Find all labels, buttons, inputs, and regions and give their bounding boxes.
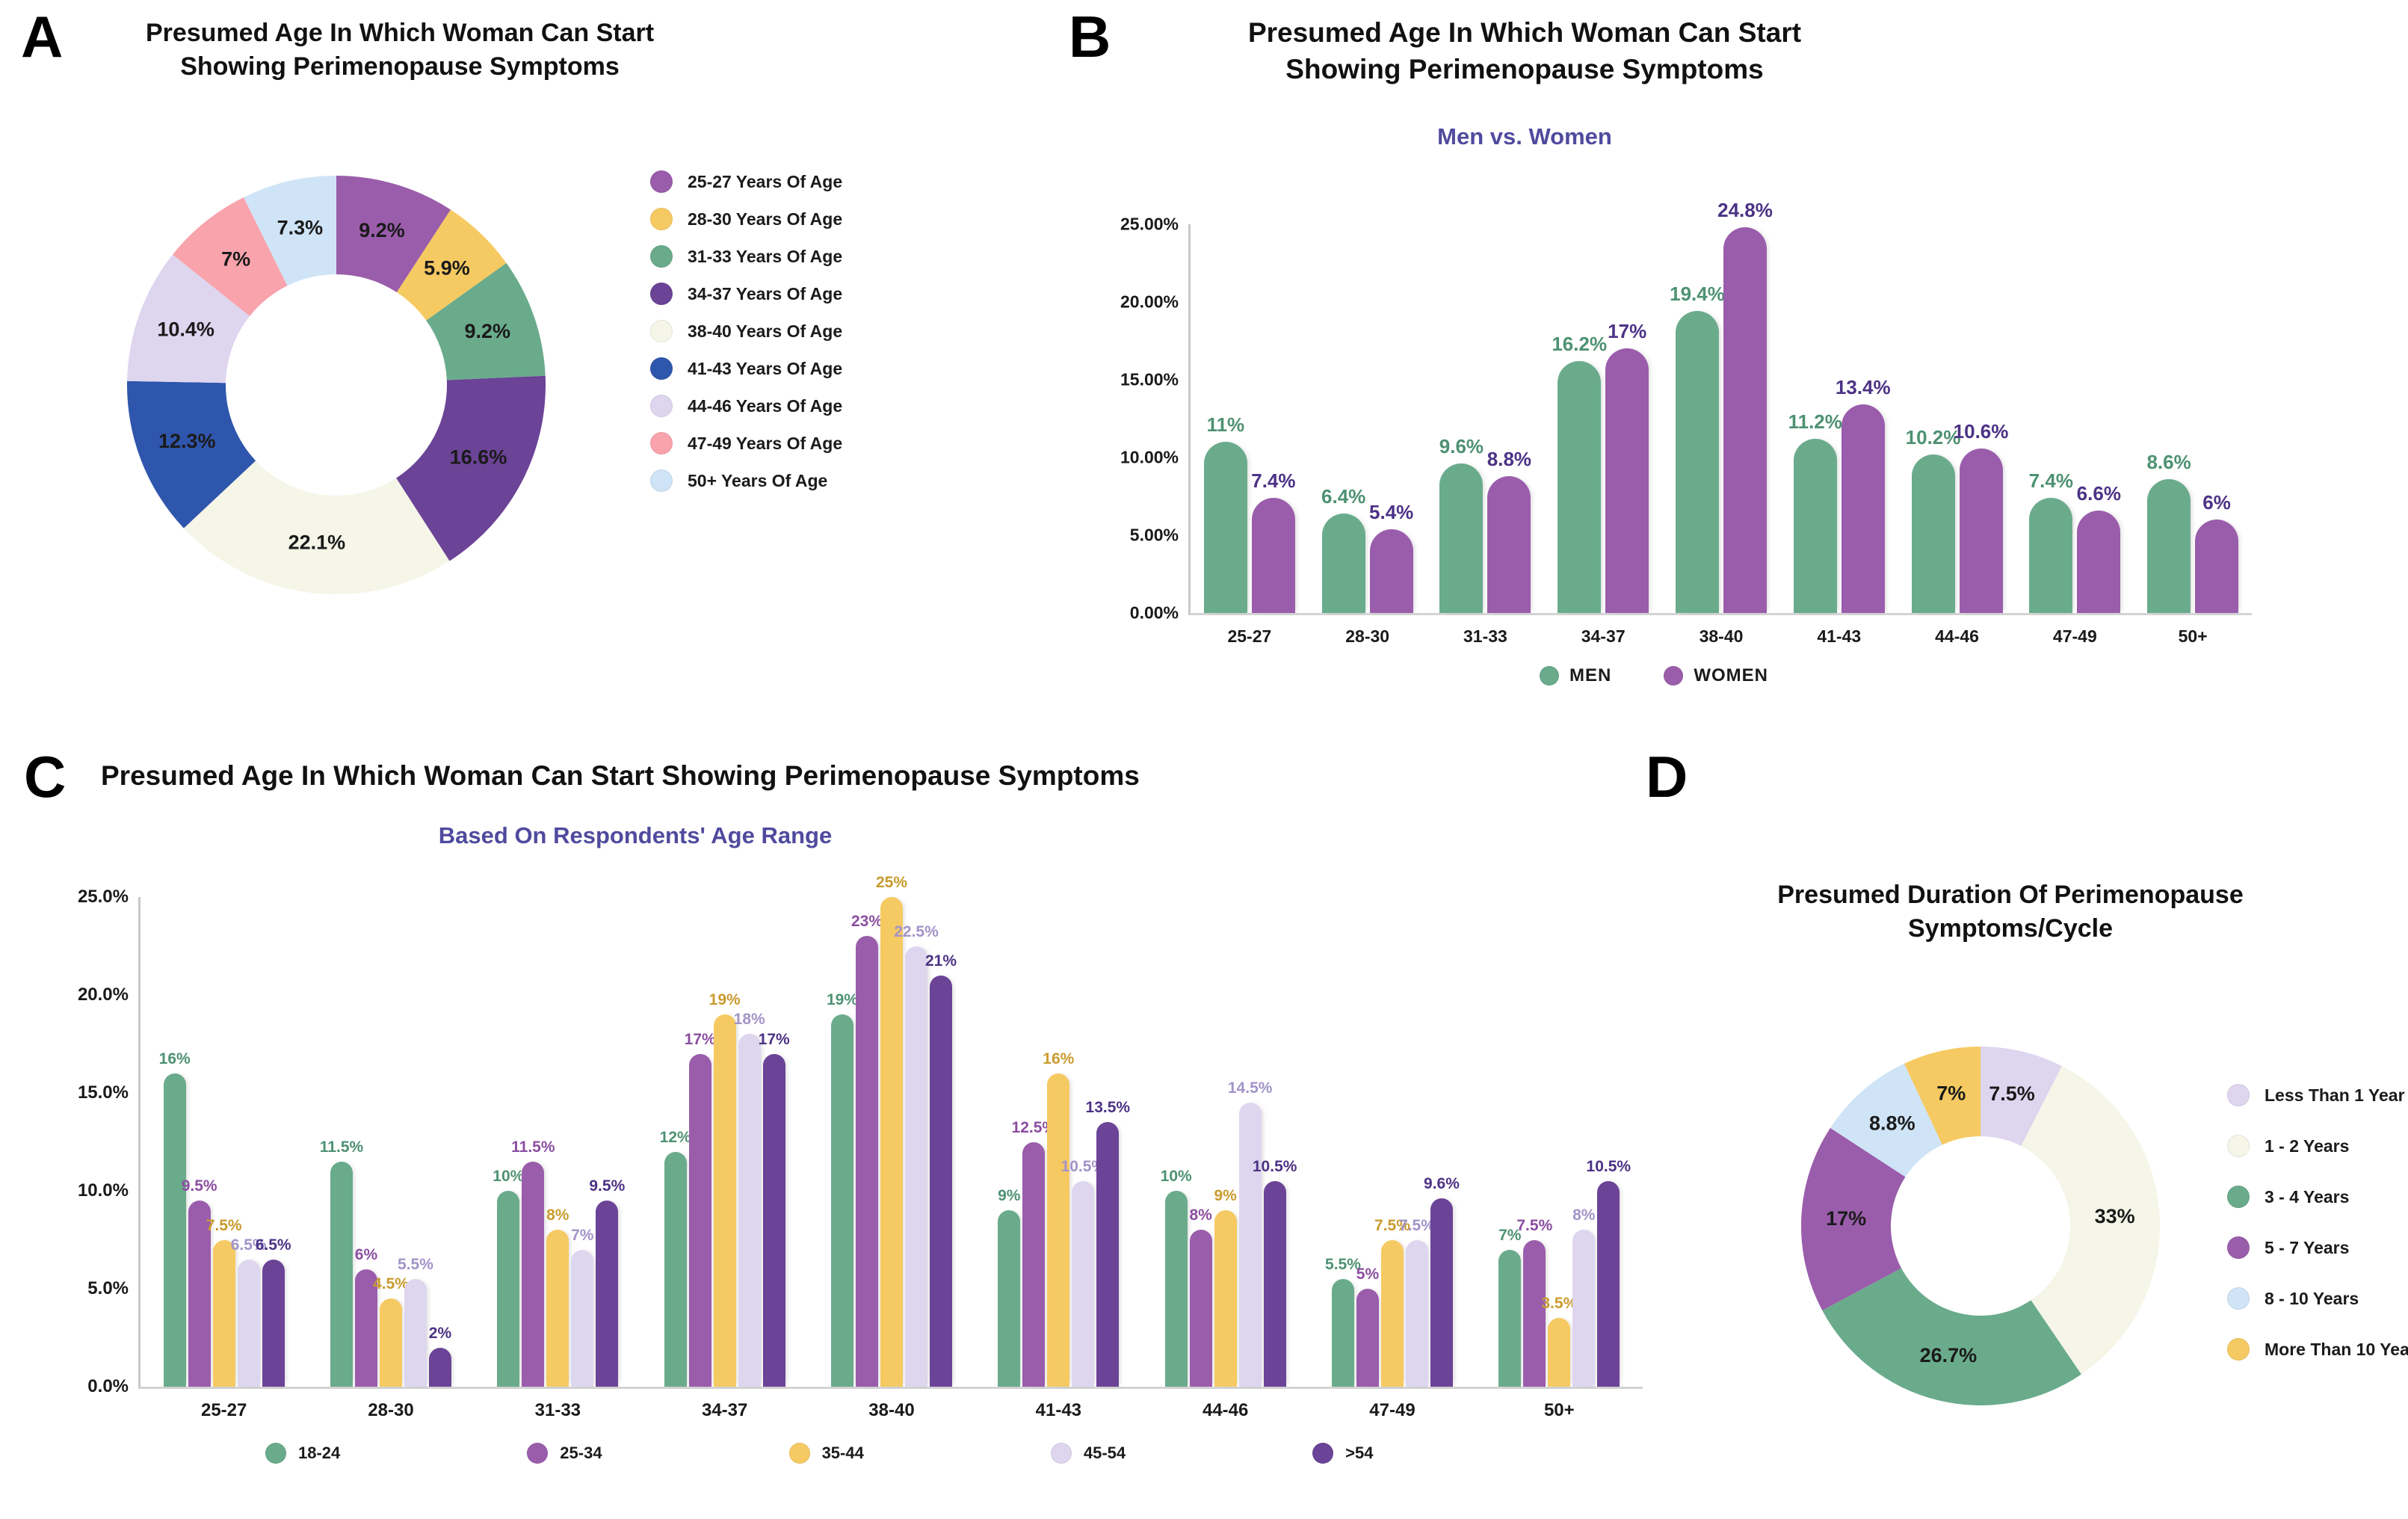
bar[interactable]: 10.2% <box>1912 455 1955 613</box>
panel-b-chart: 0.00%5.00%10.00%15.00%20.00%25.00%11%7.4… <box>1046 0 2407 733</box>
bar[interactable]: 19% <box>714 1014 736 1387</box>
legend-swatch-men-icon <box>1540 666 1559 685</box>
legend-item[interactable]: MEN <box>1540 665 1611 686</box>
y-axis-tick-label: 15.00% <box>1120 370 1191 390</box>
bar-value-label: 7% <box>571 1227 593 1245</box>
bar-value-label: 18% <box>734 1011 765 1029</box>
legend-label: 38-40 Years Of Age <box>688 321 842 342</box>
legend-label: 47-49 Years Of Age <box>688 434 842 454</box>
legend-item[interactable]: 47-49 Years Of Age <box>650 432 842 455</box>
legend-label: 34-37 Years Of Age <box>688 284 842 304</box>
bar-group: 7%7.5%3.5%8%10.5%50+ <box>1476 897 1643 1387</box>
legend-label: 18-24 <box>298 1443 340 1463</box>
bar-value-label: 11.5% <box>320 1139 363 1156</box>
bar-value-label: 7.4% <box>1251 469 1295 493</box>
bar[interactable]: 4.5% <box>380 1298 402 1387</box>
bar-value-label: 13.5% <box>1086 1099 1131 1117</box>
bar-value-label: 4.5% <box>373 1275 409 1293</box>
bar[interactable]: 19.4% <box>1676 311 1719 613</box>
bar-value-label: 5.5% <box>1325 1256 1361 1274</box>
bar-value-label: 22.5% <box>894 923 939 941</box>
panel-b-plot-area: 0.00%5.00%10.00%15.00%20.00%25.00%11%7.4… <box>1188 224 2252 615</box>
donut-slice-value-label: 12.3% <box>158 430 216 452</box>
bar-value-label: 10.5% <box>1587 1158 1631 1176</box>
y-axis-tick-label: 0.00% <box>1130 603 1191 623</box>
legend-item[interactable]: 38-40 Years Of Age <box>650 320 842 342</box>
legend-swatch-3-4-years-icon <box>2227 1186 2250 1208</box>
bar[interactable]: 6% <box>2195 520 2238 613</box>
bar-value-label: 11.5% <box>511 1139 555 1156</box>
legend-swatch-25-34-icon <box>527 1443 548 1464</box>
donut-slice-value-label: 7% <box>1936 1082 1966 1104</box>
bar-value-label: 9.5% <box>182 1177 217 1195</box>
legend-swatch-8-10-years-icon <box>2227 1287 2250 1310</box>
legend-item[interactable]: 45-54 <box>1051 1443 1126 1464</box>
bar-value-label: 21% <box>925 952 957 970</box>
bar[interactable]: 9% <box>1214 1210 1237 1387</box>
bar-value-label: 19% <box>709 991 741 1009</box>
x-axis-tick-label: 50+ <box>1476 1400 1643 1421</box>
bar-value-label: 9% <box>998 1187 1020 1205</box>
bar[interactable]: 16% <box>164 1073 186 1387</box>
legend-label: 8 - 10 Years <box>2265 1289 2359 1309</box>
panel-a-donut: 9.2%5.9%9.2%16.6%22.1%12.3%10.4%7%7.3% <box>112 161 561 609</box>
bar[interactable]: 7.5% <box>1523 1240 1546 1387</box>
donut-slice-value-label: 7.3% <box>277 217 324 239</box>
bar[interactable]: 17% <box>1605 348 1649 613</box>
x-axis-tick-label: 41-43 <box>975 1400 1142 1421</box>
bar-value-label: 16% <box>159 1050 191 1068</box>
y-axis-tick-label: 0.0% <box>87 1376 141 1397</box>
bar-value-label: 9.5% <box>589 1177 625 1195</box>
y-axis-tick-label: 15.0% <box>78 1082 141 1103</box>
bar-value-label: 11.2% <box>1788 410 1842 434</box>
legend-label: 1 - 2 Years <box>2265 1136 2349 1156</box>
bar-value-label: 7.5% <box>1516 1217 1552 1235</box>
bar-group: 6.4%5.4%28-30 <box>1309 224 1427 613</box>
bar-value-label: 5% <box>1356 1266 1379 1284</box>
bar[interactable]: 11% <box>1204 442 1247 613</box>
bar[interactable]: 8% <box>546 1230 569 1387</box>
bar-value-label: 8% <box>1572 1207 1595 1224</box>
bar-value-label: 11% <box>1207 413 1245 437</box>
bar-value-label: 10% <box>493 1168 524 1186</box>
bar[interactable]: 16% <box>1047 1073 1069 1387</box>
bar-group: 16.2%17%34-37 <box>1544 224 1662 613</box>
bar-group: 11%7.4%25-27 <box>1191 224 1309 613</box>
y-axis-tick-label: 25.00% <box>1120 215 1191 235</box>
bar[interactable]: 11.5% <box>330 1162 353 1387</box>
bar-value-label: 6% <box>355 1246 377 1264</box>
panel-b-legend: MEN WOMEN <box>1540 665 1768 686</box>
panel-b: B Presumed Age In Which Woman Can Start … <box>1046 0 2407 733</box>
bar[interactable]: 8% <box>1190 1230 1212 1387</box>
donut-slice-value-label: 9.2% <box>464 320 510 342</box>
bar-value-label: 6.5% <box>256 1236 291 1254</box>
bar-value-label: 6.6% <box>2077 482 2121 505</box>
legend-swatch-31-33-icon <box>650 245 673 268</box>
bar[interactable]: 10.5% <box>1264 1181 1286 1387</box>
legend-item[interactable]: 1 - 2 Years <box>2227 1135 2408 1157</box>
y-axis-tick-label: 10.0% <box>78 1180 141 1201</box>
bar[interactable]: 25% <box>880 897 903 1387</box>
y-axis-tick-label: 10.00% <box>1120 448 1191 468</box>
donut-d-svg: 7.5%33%26.7%17%8.8%7% <box>1786 1032 2175 1420</box>
panel-a: A Presumed Age In Which Woman Can Start … <box>0 0 837 658</box>
bar-value-label: 9% <box>1214 1187 1236 1205</box>
bar[interactable]: 6.6% <box>2077 511 2120 613</box>
bar-group: 8.6%6%50+ <box>2134 224 2252 613</box>
legend-swatch-50plus-icon <box>650 469 673 492</box>
bar[interactable]: 9% <box>998 1210 1020 1387</box>
legend-label: WOMEN <box>1694 665 1768 686</box>
legend-swatch-35-44-icon <box>789 1443 810 1464</box>
legend-label: 41-43 Years Of Age <box>688 359 842 379</box>
bar[interactable]: 10.6% <box>1960 449 2003 613</box>
legend-item[interactable]: 5 - 7 Years <box>2227 1236 2408 1259</box>
legend-item[interactable]: 44-46 Years Of Age <box>650 395 842 417</box>
bar-value-label: 17% <box>759 1031 790 1049</box>
x-axis-tick-label: 31-33 <box>475 1400 641 1421</box>
legend-swatch-47-49-icon <box>650 432 673 455</box>
bar[interactable]: 14.5% <box>1239 1103 1262 1387</box>
panel-c-legend: 18-24 25-34 35-44 45-54 >54 <box>265 1443 1373 1464</box>
legend-item[interactable]: 34-37 Years Of Age <box>650 283 842 305</box>
legend-swatch-25-27-icon <box>650 170 673 193</box>
bar-group: 12%17%19%18%17%34-37 <box>641 897 808 1387</box>
x-axis-tick-label: 28-30 <box>1309 626 1427 647</box>
bar[interactable]: 7.5% <box>1381 1240 1404 1387</box>
bar[interactable]: 11.5% <box>522 1162 544 1387</box>
legend-swatch-34-37-icon <box>650 283 673 305</box>
bar-value-label: 10.6% <box>1954 420 2009 443</box>
donut-slice-value-label: 9.2% <box>359 219 405 241</box>
x-axis-tick-label: 41-43 <box>1780 626 1898 647</box>
bar-group: 10%8%9%14.5%10.5%44-46 <box>1142 897 1309 1387</box>
legend-swatch-women-icon <box>1664 666 1683 685</box>
donut-slice-value-label: 33% <box>2095 1205 2135 1227</box>
x-axis-tick-label: 31-33 <box>1427 626 1545 647</box>
bar[interactable]: 10% <box>1165 1191 1188 1387</box>
bar-group: 9.6%8.8%31-33 <box>1427 224 1545 613</box>
y-axis-tick-label: 5.0% <box>87 1278 141 1299</box>
donut-slice-value-label: 16.6% <box>450 446 507 468</box>
x-axis-tick-label: 44-46 <box>1142 1400 1309 1421</box>
panel-c: C Presumed Age In Which Woman Can Start … <box>0 740 1629 1519</box>
donut-slice-value-label: 10.4% <box>157 318 214 341</box>
bar-value-label: 13.4% <box>1836 376 1891 399</box>
bar[interactable]: 19% <box>831 1014 853 1387</box>
legend-item[interactable]: 25-27 Years Of Age <box>650 170 842 193</box>
bar-value-label: 6.4% <box>1321 485 1365 508</box>
bar[interactable]: 10.5% <box>1072 1181 1094 1387</box>
legend-swatch-28-30-icon <box>650 208 673 230</box>
legend-swatch-45-54-icon <box>1051 1443 1072 1464</box>
bar-value-label: 24.8% <box>1717 199 1773 222</box>
bar[interactable]: 8% <box>1572 1230 1595 1387</box>
panel-d-title: Presumed Duration Of Perimenopause Sympt… <box>1749 878 2272 946</box>
legend-label: 44-46 Years Of Age <box>688 396 842 416</box>
bar-value-label: 16% <box>1043 1050 1074 1068</box>
bar-value-label: 8.8% <box>1487 448 1531 471</box>
legend-label: 3 - 4 Years <box>2265 1187 2349 1207</box>
legend-swatch-over54-icon <box>1312 1443 1333 1464</box>
donut-slice-value-label: 7.5% <box>1989 1082 2035 1105</box>
donut-slice-value-label: 26.7% <box>1920 1344 1978 1367</box>
legend-label: 28-30 Years Of Age <box>688 209 842 229</box>
bar[interactable]: 12.5% <box>1022 1142 1045 1387</box>
bar[interactable]: 10.5% <box>1597 1181 1620 1387</box>
y-axis-tick-label: 20.0% <box>78 985 141 1005</box>
bar-group: 5.5%5%7.5%7.5%9.6%47-49 <box>1309 897 1475 1387</box>
donut-slice-value-label: 22.1% <box>288 532 346 554</box>
bar[interactable]: 21% <box>930 976 952 1387</box>
legend-label: 45-54 <box>1084 1443 1126 1463</box>
bar-value-label: 8% <box>1189 1207 1211 1224</box>
bar-value-label: 9.6% <box>1439 435 1484 458</box>
x-axis-tick-label: 47-49 <box>2016 626 2134 647</box>
bar-value-label: 7.4% <box>2029 469 2073 493</box>
bar[interactable]: 13.4% <box>1841 404 1885 613</box>
bar[interactable]: 8.8% <box>1487 476 1531 613</box>
donut-slice-value-label: 17% <box>1826 1207 1866 1230</box>
x-axis-tick-label: 25-27 <box>141 1400 307 1421</box>
bar-value-label: 19.4% <box>1670 283 1725 306</box>
x-axis-tick-label: 34-37 <box>641 1400 808 1421</box>
legend-label: Less Than 1 Year <box>2265 1085 2405 1106</box>
bar[interactable]: 18% <box>738 1034 761 1387</box>
bar[interactable]: 8.6% <box>2147 479 2191 613</box>
bar[interactable]: 23% <box>856 936 878 1387</box>
bar-group: 7.4%6.6%47-49 <box>2016 224 2134 613</box>
legend-item[interactable]: 18-24 <box>265 1443 340 1464</box>
bar[interactable]: 6.5% <box>262 1260 285 1387</box>
y-axis-tick-label: 5.00% <box>1130 526 1191 546</box>
bar-value-label: 8% <box>546 1207 569 1224</box>
bar[interactable]: 6.4% <box>1322 514 1365 613</box>
bar[interactable]: 7.5% <box>213 1240 235 1387</box>
bar[interactable]: 24.8% <box>1723 227 1767 613</box>
bar[interactable]: 5.5% <box>404 1279 427 1387</box>
bar-group: 10.2%10.6%44-46 <box>1898 224 2016 613</box>
bar-group: 16%9.5%7.5%6.5%6.5%25-27 <box>141 897 307 1387</box>
bar-group: 9%12.5%16%10.5%13.5%41-43 <box>975 897 1142 1387</box>
legend-label: 35-44 <box>822 1443 864 1463</box>
x-axis-tick-label: 28-30 <box>307 1400 474 1421</box>
panel-d: D Presumed Duration Of Perimenopause Sym… <box>1629 740 2408 1519</box>
bar[interactable]: 7% <box>1498 1250 1521 1387</box>
legend-label: More Than 10 Years <box>2265 1340 2408 1360</box>
bar[interactable]: 2% <box>429 1348 451 1387</box>
x-axis-tick-label: 44-46 <box>1898 626 2016 647</box>
legend-item[interactable]: 50+ Years Of Age <box>650 469 842 492</box>
legend-swatch-38-40-icon <box>650 320 673 342</box>
legend-label: 25-34 <box>560 1443 602 1463</box>
bar[interactable]: 5.5% <box>1332 1279 1354 1387</box>
bar[interactable]: 17% <box>763 1054 785 1387</box>
bar-value-label: 8.6% <box>2146 451 2191 474</box>
y-axis-tick-label: 20.00% <box>1120 292 1191 312</box>
bar-group: 11.2%13.4%41-43 <box>1780 224 1898 613</box>
bar-value-label: 23% <box>851 913 883 931</box>
bar-value-label: 6% <box>2202 491 2231 514</box>
bar[interactable]: 7% <box>571 1250 593 1387</box>
bar[interactable]: 7.5% <box>1406 1240 1428 1387</box>
legend-label: >54 <box>1345 1443 1373 1463</box>
legend-item[interactable]: 31-33 Years Of Age <box>650 245 842 268</box>
legend-swatch-5-7-years-icon <box>2227 1236 2250 1259</box>
bar-value-label: 17% <box>1608 320 1646 343</box>
panel-c-plot-area: 0.0%5.0%10.0%15.0%20.0%25.0%16%9.5%7.5%6… <box>138 897 1643 1389</box>
legend-swatch-1-2-years-icon <box>2227 1135 2250 1157</box>
legend-item[interactable]: 28-30 Years Of Age <box>650 208 842 230</box>
legend-swatch-44-46-icon <box>650 395 673 417</box>
bar[interactable]: 3.5% <box>1548 1318 1570 1387</box>
panel-c-chart: 0.0%5.0%10.0%15.0%20.0%25.0%16%9.5%7.5%6… <box>0 740 1629 1519</box>
donut-a-svg: 9.2%5.9%9.2%16.6%22.1%12.3%10.4%7%7.3% <box>112 161 561 609</box>
bar[interactable]: 22.5% <box>905 946 927 1387</box>
bar-value-label: 2% <box>429 1325 451 1343</box>
donut-slice-value-label: 8.8% <box>1869 1112 1915 1134</box>
panel-a-letter: A <box>21 7 63 66</box>
legend-item[interactable]: 35-44 <box>789 1443 864 1464</box>
bar[interactable]: 6.5% <box>238 1260 260 1387</box>
bar-value-label: 5.4% <box>1369 501 1413 524</box>
legend-item[interactable]: >54 <box>1312 1443 1373 1464</box>
legend-item[interactable]: 25-34 <box>527 1443 602 1464</box>
bar-value-label: 10% <box>1161 1168 1192 1186</box>
x-axis-tick-label: 38-40 <box>808 1400 975 1421</box>
bar-value-label: 14.5% <box>1228 1079 1273 1097</box>
legend-item[interactable]: 3 - 4 Years <box>2227 1186 2408 1208</box>
legend-label: 31-33 Years Of Age <box>688 247 842 267</box>
bar-value-label: 9.6% <box>1424 1175 1460 1193</box>
bar-group: 19.4%24.8%38-40 <box>1662 224 1780 613</box>
bar-value-label: 12% <box>660 1129 691 1147</box>
bar-value-label: 19% <box>827 991 858 1009</box>
bar-value-label: 5.5% <box>398 1256 433 1274</box>
bar-value-label: 3.5% <box>1541 1295 1577 1313</box>
x-axis-tick-label: 50+ <box>2134 626 2252 647</box>
bar[interactable]: 10% <box>497 1191 519 1387</box>
panel-d-donut: 7.5%33%26.7%17%8.8%7% <box>1786 1032 2175 1420</box>
legend-label: 50+ Years Of Age <box>688 471 827 491</box>
panel-a-legend: 25-27 Years Of Age 28-30 Years Of Age 31… <box>650 170 842 507</box>
legend-label: 5 - 7 Years <box>2265 1238 2349 1258</box>
bar[interactable]: 5.4% <box>1370 529 1413 613</box>
legend-item[interactable]: 8 - 10 Years <box>2227 1287 2408 1310</box>
legend-swatch-41-43-icon <box>650 357 673 380</box>
bar-group: 11.5%6%4.5%5.5%2%28-30 <box>307 897 474 1387</box>
legend-label: 25-27 Years Of Age <box>688 172 842 192</box>
y-axis-tick-label: 25.0% <box>78 887 141 908</box>
bar[interactable]: 11.2% <box>1794 439 1837 613</box>
x-axis-tick-label: 34-37 <box>1544 626 1662 647</box>
bar-value-label: 16.2% <box>1552 333 1607 356</box>
bar[interactable]: 7.4% <box>2029 498 2072 613</box>
x-axis-tick-label: 38-40 <box>1662 626 1780 647</box>
bar[interactable]: 9.6% <box>1439 463 1483 613</box>
legend-swatch-18-24-icon <box>265 1443 286 1464</box>
bar-value-label: 17% <box>685 1031 716 1049</box>
legend-item[interactable]: More Than 10 Years <box>2227 1338 2408 1361</box>
x-axis-tick-label: 47-49 <box>1309 1400 1475 1421</box>
bar-value-label: 7.5% <box>1399 1217 1435 1235</box>
bar[interactable]: 9.6% <box>1430 1198 1453 1387</box>
bar[interactable]: 16.2% <box>1558 361 1601 613</box>
bar-value-label: 10.5% <box>1253 1158 1297 1176</box>
bar-value-label: 7.5% <box>206 1217 242 1235</box>
panel-a-title: Presumed Age In Which Woman Can Start Sh… <box>97 16 703 84</box>
bar[interactable]: 17% <box>689 1054 711 1387</box>
bar-value-label: 10.2% <box>1906 426 1961 449</box>
bar[interactable]: 5% <box>1356 1289 1379 1387</box>
legend-label: MEN <box>1569 665 1611 686</box>
bar[interactable]: 12% <box>664 1152 687 1387</box>
bar[interactable]: 7.4% <box>1252 498 1295 613</box>
legend-item[interactable]: 41-43 Years Of Age <box>650 357 842 380</box>
panel-d-legend: Less Than 1 Year 1 - 2 Years 3 - 4 Years… <box>2227 1084 2408 1375</box>
panel-d-letter: D <box>1646 748 1688 806</box>
bar-group: 19%23%25%22.5%21%38-40 <box>808 897 975 1387</box>
legend-item[interactable]: Less Than 1 Year <box>2227 1084 2408 1106</box>
bar[interactable]: 9.5% <box>596 1201 618 1387</box>
bar-value-label: 25% <box>876 874 907 892</box>
donut-slice-value-label: 7% <box>221 248 250 271</box>
legend-item[interactable]: WOMEN <box>1664 665 1768 686</box>
bar-group: 10%11.5%8%7%9.5%31-33 <box>475 897 641 1387</box>
legend-swatch-more-than-10-years-icon <box>2227 1338 2250 1361</box>
bar[interactable]: 13.5% <box>1096 1122 1119 1387</box>
x-axis-tick-label: 25-27 <box>1191 626 1309 647</box>
donut-slice-value-label: 5.9% <box>424 257 470 280</box>
legend-swatch-less-than-1-year-icon <box>2227 1084 2250 1106</box>
